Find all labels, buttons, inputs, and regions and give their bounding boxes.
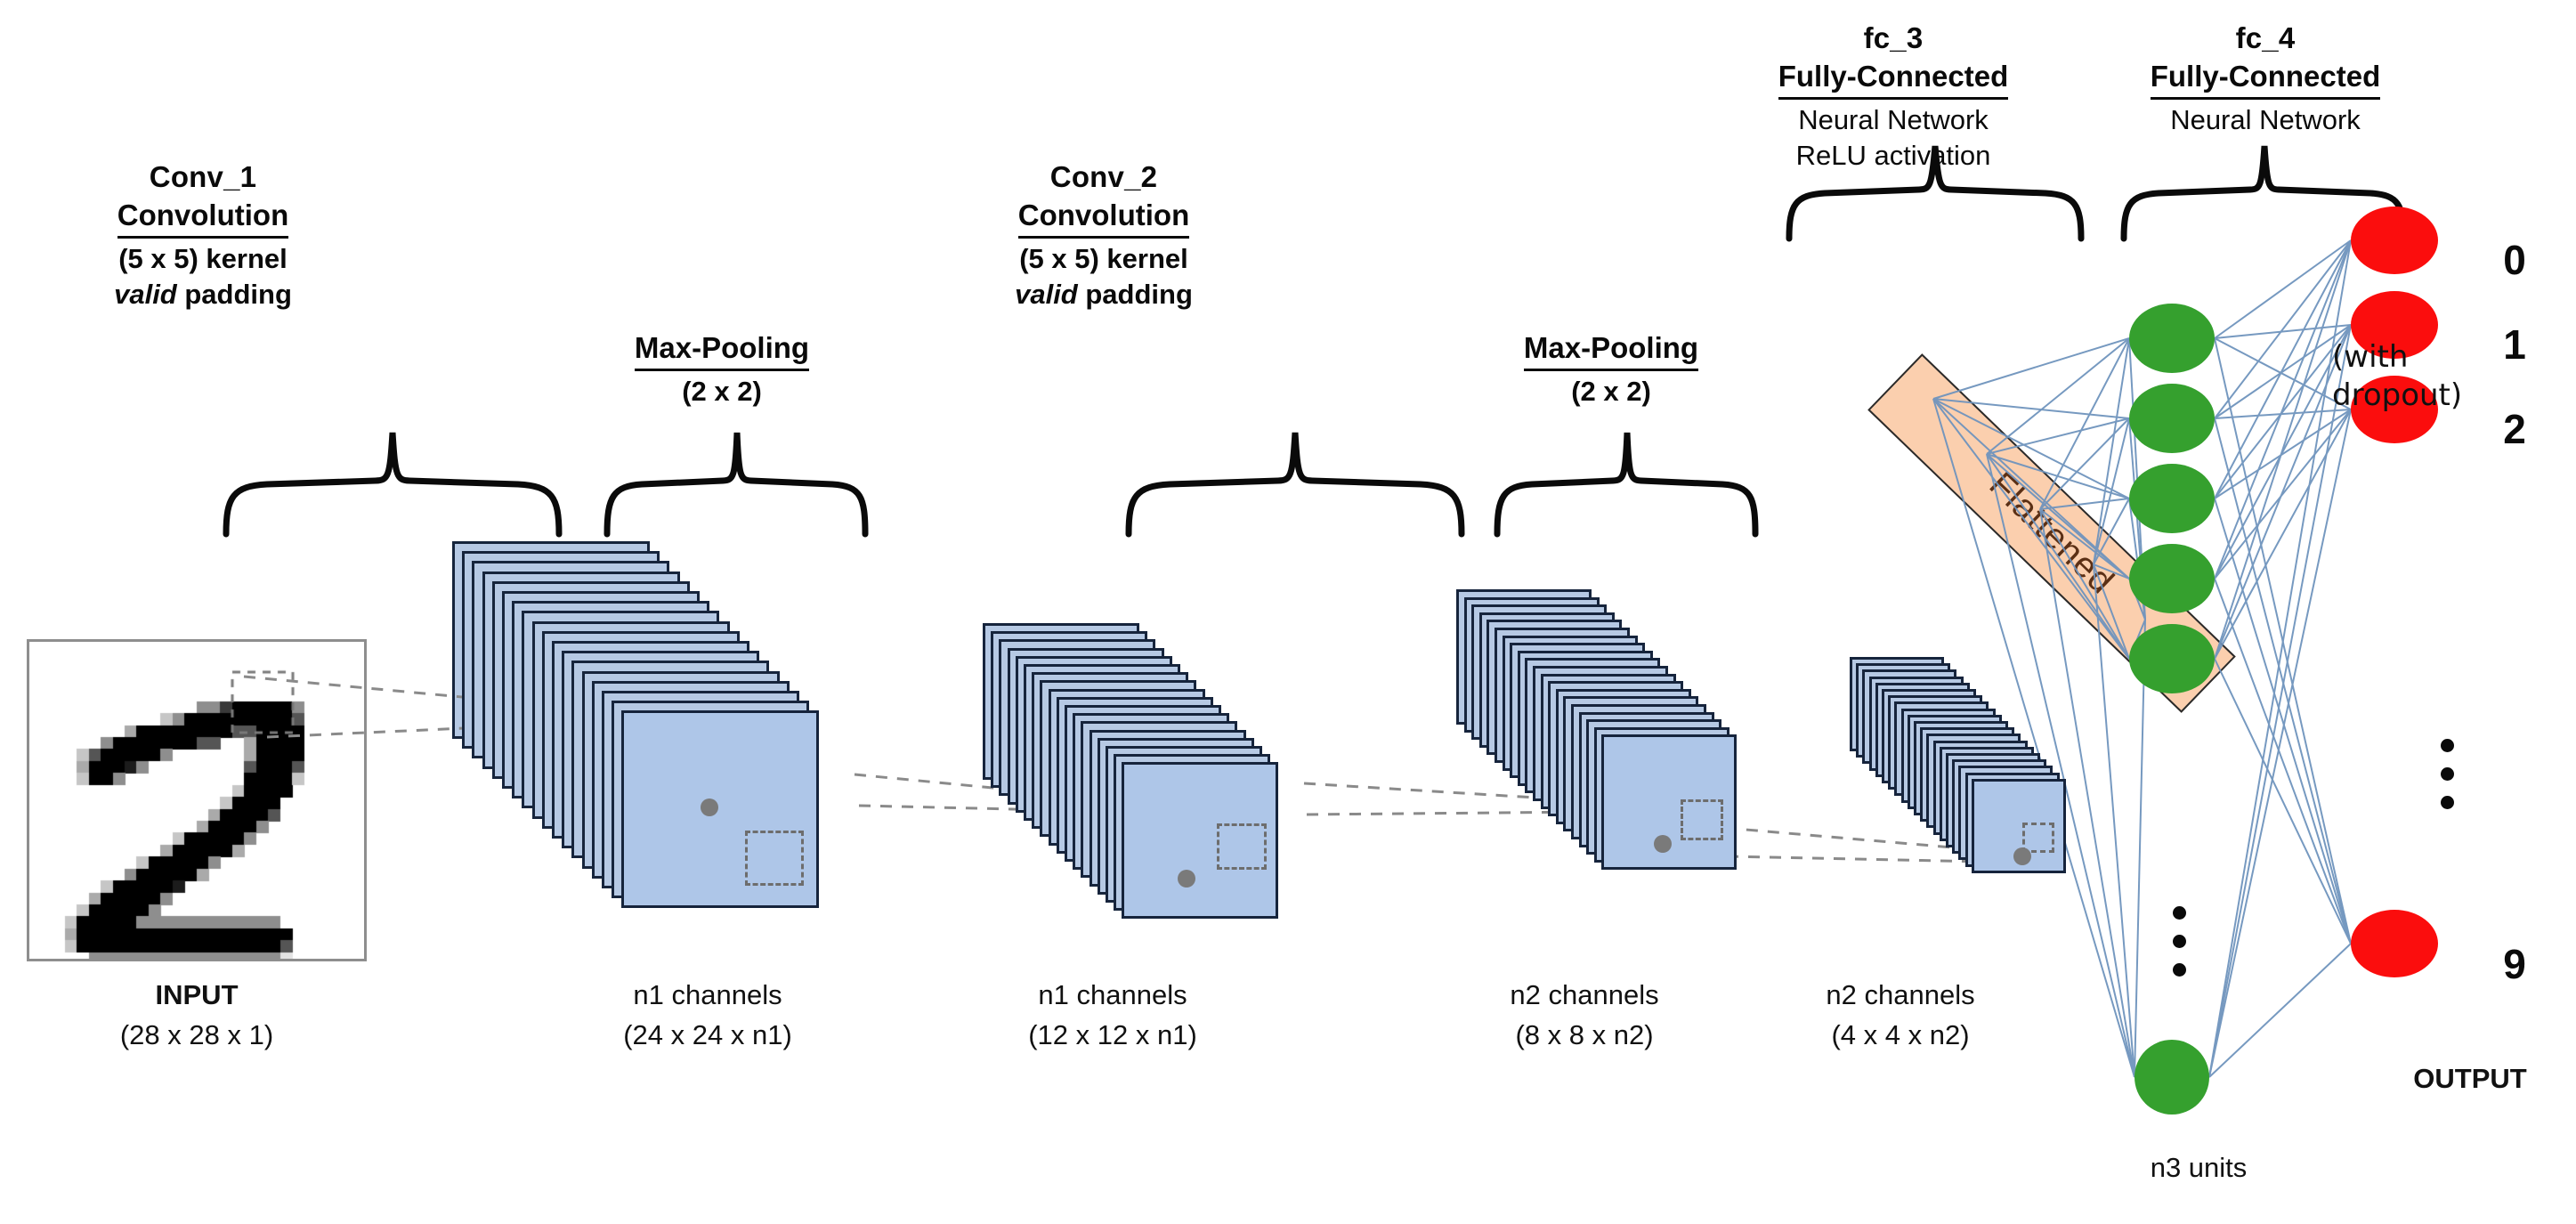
output-digit-2: 2 [2483, 405, 2546, 453]
caption-pool2-title: n2 channels [1749, 976, 2052, 1016]
caption-conv2-shape: (8 x 8 x n2) [1433, 1016, 1736, 1056]
header-conv1-kernel: (5 x 5) kernel [87, 241, 319, 277]
receptive-field-patch-conv1 [745, 831, 804, 886]
output-node-9 [2351, 910, 2438, 977]
header-conv1: Conv_1 Convolution (5 x 5) kernel valid … [87, 158, 319, 312]
brace-pool1 [602, 427, 871, 539]
mnist-digit-image [29, 642, 364, 959]
hidden-node-3 [2129, 464, 2215, 533]
header-fc3-subtitle: Fully-Connected [1778, 58, 2009, 100]
caption-output: OUTPUT [2368, 1059, 2572, 1099]
caption-conv2: n2 channels (8 x 8 x n2) [1433, 976, 1736, 1056]
output-digit-0: 0 [2483, 236, 2546, 284]
hidden-node-5 [2129, 624, 2215, 693]
header-fc4-subtitle: Fully-Connected [2151, 58, 2381, 100]
header-conv2-subtitle: Convolution [1018, 197, 1189, 239]
header-pool1: Max-Pooling (2 x 2) [611, 329, 833, 409]
cnn-architecture-diagram: Conv_1 Convolution (5 x 5) kernel valid … [0, 0, 2576, 1224]
feature-map-stack-conv1 [452, 541, 819, 908]
feature-map-front-conv1 [621, 710, 819, 908]
hidden-node-1 [2129, 304, 2215, 373]
output-digit-9: 9 [2483, 940, 2546, 988]
header-conv1-padding-word: padding [177, 279, 292, 310]
caption-conv1-shape: (24 x 24 x n1) [556, 1016, 859, 1056]
caption-input-title: INPUT [28, 976, 366, 1016]
caption-conv1-title: n1 channels [556, 976, 859, 1016]
hidden-node-4 [2129, 544, 2215, 613]
caption-input: INPUT (28 x 28 x 1) [28, 976, 366, 1056]
activation-dot-conv2 [1654, 835, 1672, 853]
feature-map-stack-conv2 [1456, 589, 1737, 870]
feature-map-front-pool2 [1972, 779, 2066, 873]
receptive-field-patch-pool1 [1217, 823, 1267, 870]
output-node-0 [2351, 207, 2438, 274]
header-fc3-title: fc_3 [1746, 20, 2040, 58]
header-pool1-size: (2 x 2) [611, 374, 833, 409]
header-conv1-title: Conv_1 [87, 158, 319, 197]
header-conv2: Conv_2 Convolution (5 x 5) kernel valid … [988, 158, 1219, 312]
header-conv1-padding-mode: valid [114, 279, 177, 310]
header-fc4-type: Neural Network [2118, 102, 2412, 138]
dropout-note: (with dropout) [2332, 338, 2462, 414]
header-conv1-padding: valid padding [87, 277, 319, 312]
header-fc3-type: Neural Network [1746, 102, 2040, 138]
header-conv1-subtitle: Convolution [117, 197, 288, 239]
output-digit-1: 1 [2483, 320, 2546, 369]
header-pool2: Max-Pooling (2 x 2) [1500, 329, 1722, 409]
receptive-field-patch-conv2 [1681, 799, 1723, 840]
hidden-node-6 [2135, 1040, 2209, 1115]
header-pool2-subtitle: Max-Pooling [1524, 329, 1698, 371]
hidden-node-2 [2129, 384, 2215, 453]
caption-fc3-title: n3 units [2087, 1148, 2310, 1188]
header-fc4-title: fc_4 [2118, 20, 2412, 58]
caption-conv1: n1 channels (24 x 24 x n1) [556, 976, 859, 1056]
header-conv2-kernel: (5 x 5) kernel [988, 241, 1219, 277]
caption-pool1: n1 channels (12 x 12 x n1) [961, 976, 1264, 1056]
caption-pool1-title: n1 channels [961, 976, 1264, 1016]
caption-fc3: n3 units [2087, 1148, 2310, 1188]
caption-pool2-shape: (4 x 4 x n2) [1749, 1016, 2052, 1056]
header-conv2-title: Conv_2 [988, 158, 1219, 197]
brace-fc3 [1784, 141, 2086, 244]
flattened-label: Flattened [1981, 465, 2122, 602]
caption-output-title: OUTPUT [2368, 1059, 2572, 1099]
header-conv2-padding-mode: valid [1015, 279, 1078, 310]
caption-pool1-shape: (12 x 12 x n1) [961, 1016, 1264, 1056]
dropout-note-line1: (with [2332, 338, 2462, 377]
activation-dot-pool1 [1178, 870, 1195, 888]
feature-map-front-conv2 [1601, 734, 1737, 870]
input-image-panel [27, 639, 367, 961]
caption-input-shape: (28 x 28 x 1) [28, 1016, 366, 1056]
feature-map-stack-pool2 [1850, 657, 2066, 873]
header-conv2-padding: valid padding [988, 277, 1219, 312]
brace-conv1 [221, 427, 564, 539]
feature-map-front-pool1 [1122, 762, 1278, 919]
header-conv2-padding-word: padding [1078, 279, 1193, 310]
brace-pool2 [1492, 427, 1761, 539]
dropout-note-line2: dropout) [2332, 377, 2462, 415]
hidden-layer-ellipsis [2173, 906, 2186, 992]
activation-dot-pool2 [2013, 847, 2031, 865]
caption-pool2: n2 channels (4 x 4 x n2) [1749, 976, 2052, 1056]
brace-conv2 [1123, 427, 1467, 539]
activation-dot-conv1 [701, 798, 718, 816]
output-layer-ellipsis [2441, 739, 2454, 824]
header-pool1-subtitle: Max-Pooling [635, 329, 809, 371]
header-pool2-size: (2 x 2) [1500, 374, 1722, 409]
caption-conv2-title: n2 channels [1433, 976, 1736, 1016]
header-fc4: fc_4 Fully-Connected Neural Network [2118, 20, 2412, 138]
feature-map-stack-pool1 [983, 623, 1278, 919]
